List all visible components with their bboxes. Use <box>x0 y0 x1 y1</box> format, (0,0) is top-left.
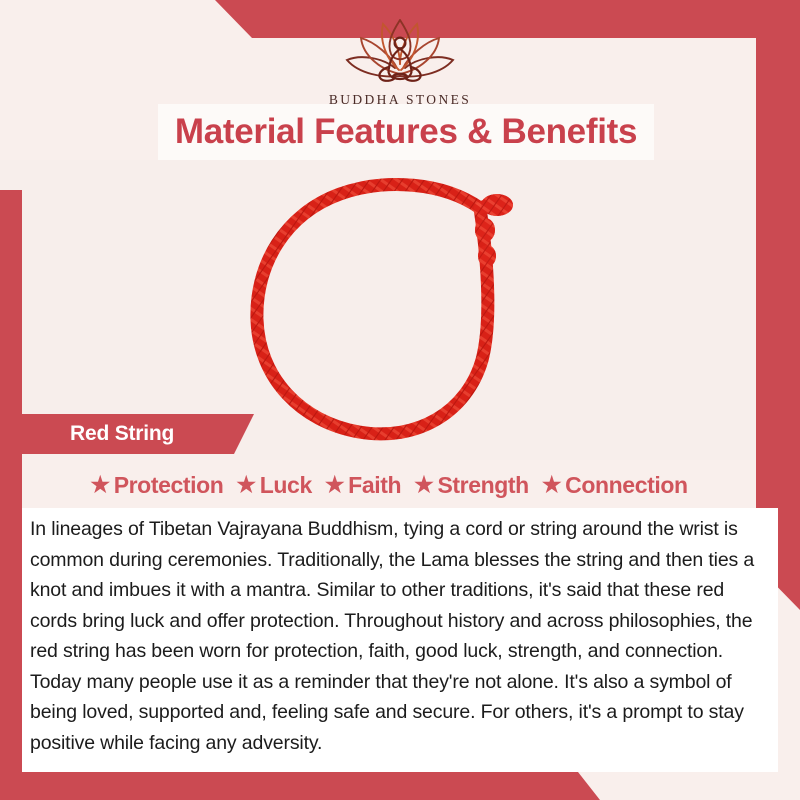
benefit-label: Luck <box>260 472 312 499</box>
benefit-strength: ★ Strength <box>414 472 529 499</box>
star-icon: ★ <box>90 474 109 496</box>
benefit-luck: ★ Luck <box>236 472 311 499</box>
benefit-connection: ★ Connection <box>542 472 688 499</box>
benefit-label: Strength <box>437 472 528 499</box>
benefit-label: Faith <box>348 472 401 499</box>
star-icon: ★ <box>414 474 433 496</box>
material-banner-label: Red String <box>70 414 174 454</box>
benefit-label: Protection <box>114 472 224 499</box>
benefit-faith: ★ Faith <box>325 472 401 499</box>
star-icon: ★ <box>325 474 344 496</box>
bottom-red-band <box>0 772 800 800</box>
benefit-protection: ★ Protection <box>90 472 223 499</box>
infographic-page: BUDDHA STONES <box>0 0 800 800</box>
page-title: Material Features & Benefits <box>158 104 654 160</box>
description-text: In lineages of Tibetan Vajrayana Buddhis… <box>30 514 764 758</box>
star-icon: ★ <box>542 474 561 496</box>
benefit-label: Connection <box>565 472 688 499</box>
brand-header: BUDDHA STONES <box>0 0 800 108</box>
logo: BUDDHA STONES <box>315 0 485 108</box>
star-icon: ★ <box>236 474 255 496</box>
lotus-meditation-icon <box>315 12 485 90</box>
left-red-bar <box>0 190 22 780</box>
benefits-row: ★ Protection ★ Luck ★ Faith ★ Strength ★… <box>22 462 756 508</box>
description-block: In lineages of Tibetan Vajrayana Buddhis… <box>22 508 778 772</box>
